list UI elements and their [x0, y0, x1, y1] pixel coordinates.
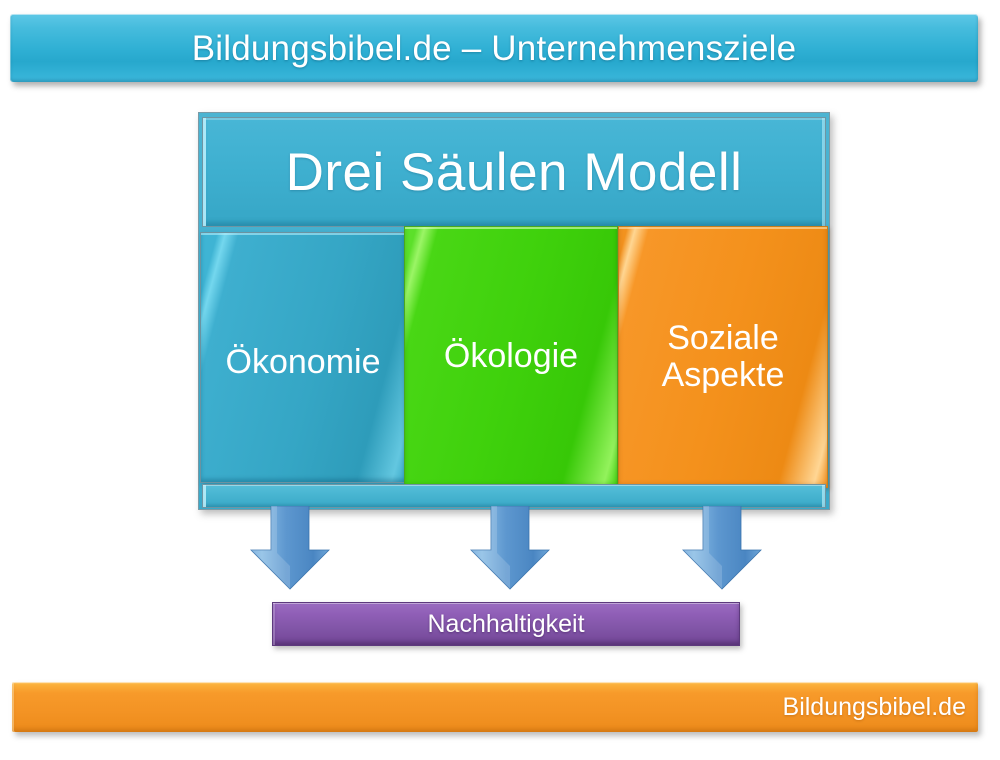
- drei-saeulen-modell-container: Drei Säulen Modell Ökonomie Ökologie Soz…: [198, 112, 830, 510]
- arrow-down-icon: [682, 506, 762, 590]
- pillar-oekonomie-label: Ökonomie: [226, 334, 381, 381]
- pillar-oekonomie: Ökonomie: [200, 232, 406, 483]
- model-title-label: Drei Säulen Modell: [286, 146, 743, 199]
- arrow-down-icon: [250, 506, 330, 590]
- pillar-oekologie-label: Ökologie: [444, 338, 578, 375]
- header-banner: Bildungsbibel.de – Unternehmensziele: [10, 14, 978, 82]
- pillar-soziale-aspekte-line2: Aspekte: [662, 356, 785, 394]
- pillar-oekologie: Ökologie: [404, 226, 618, 488]
- footer-banner: Bildungsbibel.de: [12, 682, 978, 732]
- page-title: Bildungsbibel.de – Unternehmensziele: [192, 31, 797, 66]
- result-bar-label: Nachhaltigkeit: [427, 612, 584, 637]
- pillar-soziale-aspekte-line1: Soziale: [667, 319, 779, 357]
- result-bar-nachhaltigkeit: Nachhaltigkeit: [272, 602, 740, 646]
- arrow-down-icon: [470, 506, 550, 590]
- pillar-soziale-aspekte: Soziale Aspekte: [618, 226, 828, 488]
- model-base-bar: [202, 484, 826, 508]
- model-title-block: Drei Säulen Modell: [202, 117, 826, 227]
- footer-brand-label: Bildungsbibel.de: [783, 695, 978, 720]
- pillar-soziale-aspekte-label: Soziale Aspekte: [662, 320, 785, 395]
